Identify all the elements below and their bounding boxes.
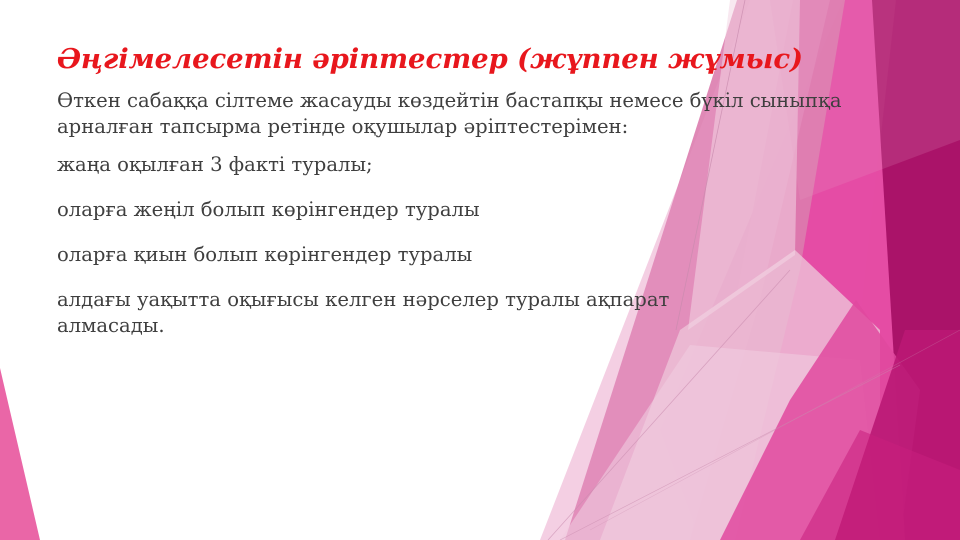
bottom-magenta-strip xyxy=(800,430,960,540)
intro-paragraph: Өткен сабаққа сілтеме жасауды көздейтін … xyxy=(57,88,847,140)
slide-title: Әңгімелесетін әріптестер (жұппен жұмыс) xyxy=(57,44,857,76)
list-item-1: жаңа оқылған 3 факті туралы; xyxy=(57,152,857,178)
list-item-2: оларға жеңіл болып көрінгендер туралы xyxy=(57,197,857,223)
slide-content: Әңгімелесетін әріптестер (жұппен жұмыс) … xyxy=(57,44,857,339)
hairline-shallow xyxy=(560,365,900,540)
lower-right-light-facet xyxy=(560,345,880,540)
left-bottom-pink-wedge xyxy=(0,368,40,540)
closing-paragraph: алдағы уақытта оқығысы келген нәрселер т… xyxy=(57,287,777,339)
bottom-right-deep-facet xyxy=(835,330,960,540)
hairline-long-shallow xyxy=(590,330,960,530)
list-item-3: оларға қиын болып көрінгендер туралы xyxy=(57,242,857,268)
slide-canvas: Әңгімелесетін әріптестер (жұппен жұмыс) … xyxy=(0,0,960,540)
